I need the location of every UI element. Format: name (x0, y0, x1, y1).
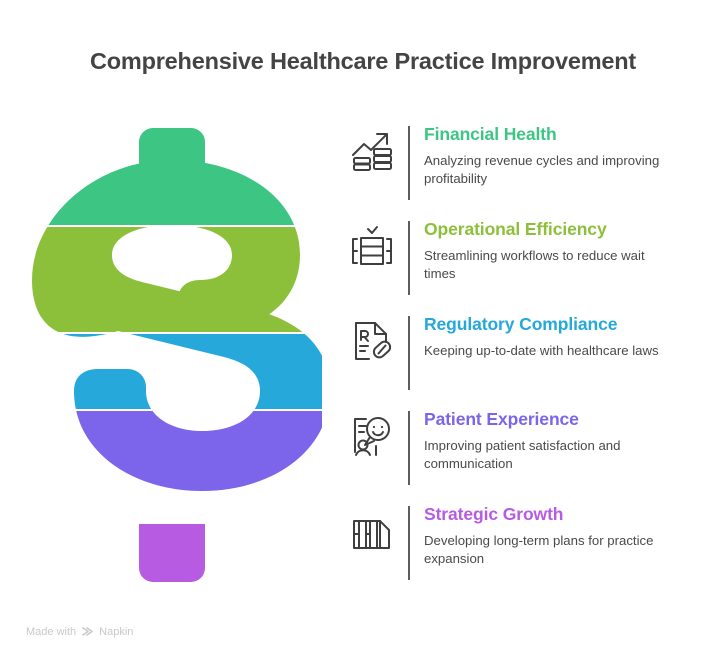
watermark-brand: Napkin (99, 626, 133, 638)
item-title: Patient Experience (424, 409, 714, 430)
watermark-prefix: Made with (26, 626, 76, 638)
dollar-sign-graphic (22, 120, 322, 590)
item-title: Strategic Growth (424, 504, 714, 525)
napkin-logo-icon (81, 625, 94, 638)
item-text: Strategic Growth Developing long-term pl… (410, 504, 714, 568)
band-financial-health (22, 120, 322, 225)
band-regulatory-compliance (22, 334, 322, 409)
list-item[interactable]: Regulatory Compliance Keeping up-to-date… (346, 314, 714, 409)
item-description: Analyzing revenue cycles and improving p… (424, 152, 669, 188)
buildings-pillars-icon (346, 504, 398, 553)
item-title: Regulatory Compliance (424, 314, 714, 335)
item-description: Developing long-term plans for practice … (424, 532, 669, 568)
item-title: Financial Health (424, 124, 714, 145)
list-item[interactable]: Patient Experience Improving patient sat… (346, 409, 714, 504)
item-text: Financial Health Analyzing revenue cycle… (410, 124, 714, 188)
list-item[interactable]: Strategic Growth Developing long-term pl… (346, 504, 714, 599)
feature-list: Financial Health Analyzing revenue cycle… (346, 124, 714, 599)
item-description: Streamlining workflows to reduce wait ti… (424, 247, 669, 283)
band-patient-experience (22, 411, 322, 495)
item-description: Keeping up-to-date with healthcare laws (424, 342, 669, 360)
item-text: Operational Efficiency Streamlining work… (410, 219, 714, 283)
watermark[interactable]: Made with Napkin (26, 625, 133, 638)
list-item[interactable]: Financial Health Analyzing revenue cycle… (346, 124, 714, 219)
item-description: Improving patient satisfaction and commu… (424, 437, 669, 473)
person-speech-bubble-smiley-icon (346, 409, 398, 458)
item-title: Operational Efficiency (424, 219, 714, 240)
prescription-document-pill-icon (346, 314, 398, 363)
item-text: Patient Experience Improving patient sat… (410, 409, 714, 473)
page-title: Comprehensive Healthcare Practice Improv… (0, 48, 726, 75)
list-item[interactable]: Operational Efficiency Streamlining work… (346, 219, 714, 314)
item-text: Regulatory Compliance Keeping up-to-date… (410, 314, 714, 360)
band-operational-efficiency (22, 227, 322, 332)
band-strategic-growth (22, 497, 322, 590)
infographic-page: Comprehensive Healthcare Practice Improv… (0, 0, 726, 660)
growth-chart-coins-icon (346, 124, 398, 173)
workflow-table-check-icon (346, 219, 398, 268)
